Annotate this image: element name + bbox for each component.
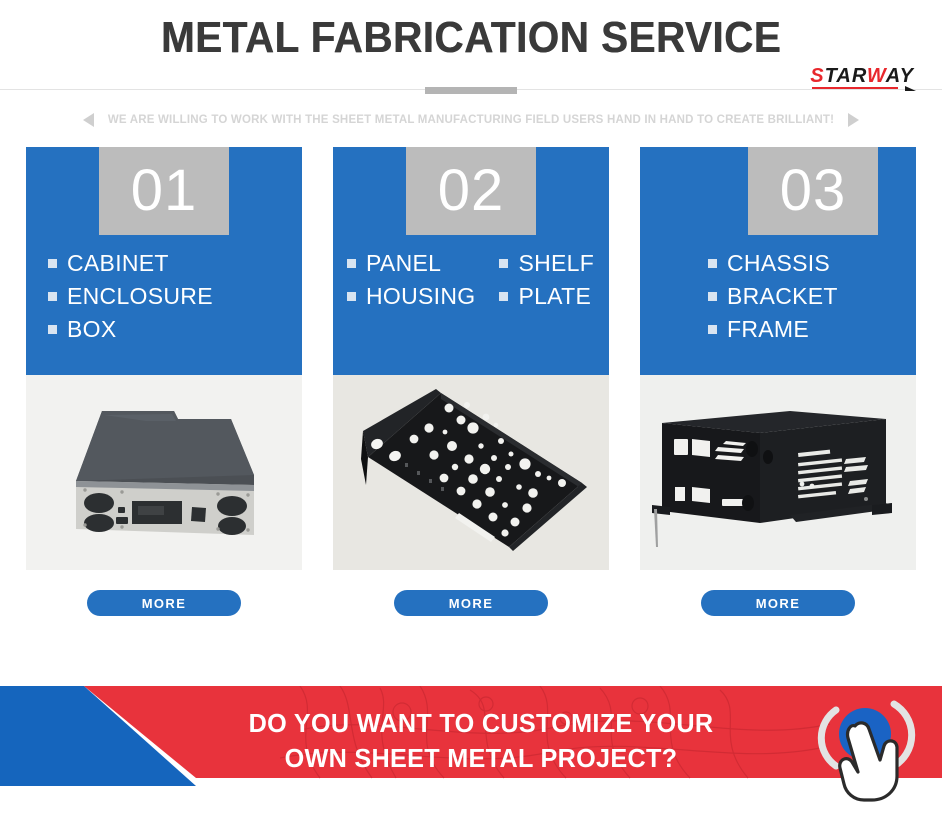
list-item: BOX [48, 317, 213, 343]
logo-letter-w: W [867, 65, 886, 87]
card-header-03: 03 CHASSIS BRACKET FRAME [640, 147, 916, 375]
bullet-label: CABINET [67, 251, 169, 277]
bullet-label: BOX [67, 317, 116, 343]
hand-click-icon[interactable] [814, 686, 922, 806]
arrow-right-icon[interactable] [848, 113, 859, 127]
more-row: MORE [640, 590, 916, 616]
card-number-box-01: 01 [99, 147, 229, 235]
list-item: PLATE [499, 284, 594, 310]
card-number-01: 01 [131, 162, 198, 220]
more-button[interactable]: MORE [701, 590, 855, 616]
logo-letter-tar: TAR [825, 65, 867, 87]
marquee-text: WE ARE WILLING TO WORK WITH THE SHEET ME… [108, 114, 834, 126]
perforated-sheet-metal-panel-photo [333, 375, 609, 570]
black-metal-chassis-photo [640, 375, 916, 570]
more-row: MORE [26, 590, 302, 616]
bullet-square-icon [347, 292, 356, 301]
logo-letter-ay: AY [886, 65, 914, 87]
card-number-03: 03 [780, 162, 847, 220]
more-button[interactable]: MORE [87, 590, 241, 616]
card-bullet-list-03: CHASSIS BRACKET FRAME [640, 251, 916, 342]
more-row: MORE [333, 590, 609, 616]
bullet-square-icon [708, 292, 717, 301]
bullet-label: SHELF [518, 251, 594, 277]
list-item: SHELF [499, 251, 594, 277]
bullet-label: HOUSING [366, 284, 475, 310]
bullet-label: PANEL [366, 251, 441, 277]
list-item: ENCLOSURE [48, 284, 213, 310]
bullet-square-icon [48, 292, 57, 301]
bullet-column-1: PANEL HOUSING [347, 251, 475, 310]
bullet-column-1: CABINET ENCLOSURE BOX [48, 251, 213, 342]
bullet-square-icon [499, 259, 508, 268]
starway-logo: STARWAY [810, 66, 914, 86]
logo-underline [812, 87, 898, 89]
logo-letter-s: S [810, 65, 824, 87]
service-card: 02 PANEL HOUSING SHELF [333, 147, 609, 616]
service-card: 01 CABINET ENCLOSURE BOX [26, 147, 302, 616]
cta-line-1: DO YOU WANT TO CUSTOMIZE YOUR [160, 706, 802, 741]
marquee-bar: WE ARE WILLING TO WORK WITH THE SHEET ME… [0, 109, 942, 131]
bullet-square-icon [347, 259, 356, 268]
card-bullet-list-02: PANEL HOUSING SHELF PLATE [333, 251, 609, 310]
arrow-left-icon[interactable] [83, 113, 94, 127]
bullet-label: ENCLOSURE [67, 284, 213, 310]
page-title: METAL FABRICATION SERVICE [38, 0, 905, 63]
list-item: CABINET [48, 251, 213, 277]
bullet-square-icon [48, 325, 57, 334]
list-item: HOUSING [347, 284, 475, 310]
cta-banner[interactable]: DO YOU WANT TO CUSTOMIZE YOUR OWN SHEET … [0, 668, 942, 823]
list-item: CHASSIS [708, 251, 838, 277]
bullet-label: BRACKET [727, 284, 838, 310]
bullet-label: FRAME [727, 317, 809, 343]
logo-swoosh-icon [905, 86, 916, 91]
metal-cabinet-enclosure-photo [26, 375, 302, 570]
cta-text: DO YOU WANT TO CUSTOMIZE YOUR OWN SHEET … [160, 706, 802, 775]
service-card-grid: 01 CABINET ENCLOSURE BOX [0, 131, 942, 616]
card-bullet-list-01: CABINET ENCLOSURE BOX [26, 251, 302, 342]
bullet-square-icon [708, 259, 717, 268]
bullet-square-icon [499, 292, 508, 301]
bullet-column-1: CHASSIS BRACKET FRAME [708, 251, 838, 342]
bullet-label: PLATE [518, 284, 591, 310]
cta-line-2: OWN SHEET METAL PROJECT? [160, 741, 802, 776]
list-item: BRACKET [708, 284, 838, 310]
header-divider: STARWAY [0, 75, 942, 105]
card-header-01: 01 CABINET ENCLOSURE BOX [26, 147, 302, 375]
service-card: 03 CHASSIS BRACKET FRAME [640, 147, 916, 616]
bullet-square-icon [708, 325, 717, 334]
bullet-square-icon [48, 259, 57, 268]
list-item: FRAME [708, 317, 838, 343]
list-item: PANEL [347, 251, 475, 277]
more-button[interactable]: MORE [394, 590, 548, 616]
card-header-02: 02 PANEL HOUSING SHELF [333, 147, 609, 375]
card-number-box-03: 03 [748, 147, 878, 235]
bullet-column-2: SHELF PLATE [499, 251, 594, 310]
card-number-box-02: 02 [406, 147, 536, 235]
bullet-label: CHASSIS [727, 251, 830, 277]
card-number-02: 02 [438, 162, 505, 220]
header-rule-tab [425, 87, 517, 94]
